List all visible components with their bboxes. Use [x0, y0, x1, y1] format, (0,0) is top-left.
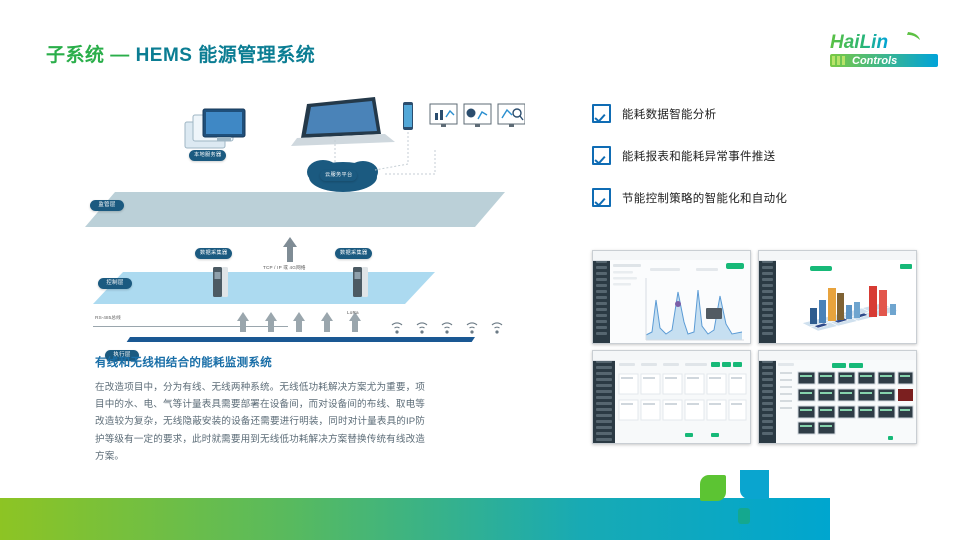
checkbox-checked-icon[interactable] — [592, 188, 611, 207]
body-copy-block: 有线和无线相结合的能耗监测系统 在改造项目中，分为有线、无线两种系统。无线低功耗… — [95, 354, 425, 465]
thumb-sidebar — [759, 251, 776, 343]
page-title-prefix: 子系统 — — [46, 45, 136, 66]
checklist-item[interactable]: 能耗数据智能分析 — [592, 104, 922, 123]
checklist-item[interactable]: 节能控制策略的智能化和自动化 — [592, 188, 922, 207]
hailin-logo: HaiLin Controls — [812, 28, 942, 72]
network-label-rs485: RS-485总线 — [95, 314, 121, 321]
decoration-green-square — [700, 475, 726, 501]
checkbox-checked-icon[interactable] — [592, 146, 611, 165]
thumb-sidebar — [759, 351, 776, 443]
node-badge-cloud-platform: 云服务平台 — [320, 170, 357, 181]
screenshot-gallery — [592, 250, 918, 442]
feature-checklist: 能耗数据智能分析 能耗报表和能耗异常事件推送 节能控制策略的智能化和自动化 — [592, 104, 922, 230]
decoration-blue-square — [740, 470, 769, 499]
bottom-gradient-bar — [0, 498, 830, 540]
network-label-tcpip: TCP / IP 或 4G网络 — [263, 265, 306, 271]
decoration-teal-square — [738, 508, 750, 524]
checkbox-checked-icon[interactable] — [592, 104, 611, 123]
checklist-item[interactable]: 能耗报表和能耗异常事件推送 — [592, 146, 922, 165]
node-badge-data-collector-wired: 数据采集器 — [195, 248, 232, 259]
thumb-sidebar — [593, 351, 615, 443]
node-badge-local-server: 本地服务器 — [189, 150, 226, 161]
screenshot-3d-energy-bar-dashboard[interactable] — [758, 250, 917, 344]
screenshot-device-tile-monitor-dashboard[interactable] — [758, 350, 917, 444]
body-copy-paragraph: 在改造项目中，分为有线、无线两种系统。无线低功耗解决方案尤为重要，项目中的水、电… — [95, 379, 425, 465]
thumb-content — [610, 260, 750, 343]
page-title-main: HEMS 能源管理系统 — [136, 45, 316, 66]
thumb-content — [615, 360, 750, 443]
checklist-item-label: 能耗数据智能分析 — [622, 106, 716, 122]
slide-root: 子系统 — HEMS 能源管理系统 HaiLin Controls — [0, 0, 960, 540]
svg-text:Controls: Controls — [852, 55, 897, 67]
thumb-sidebar — [593, 251, 610, 343]
rs485-bus-line — [93, 326, 288, 327]
screenshot-device-card-list-dashboard[interactable] — [592, 350, 751, 444]
layer-badge-supervision: 监管层 — [90, 200, 124, 211]
checklist-item-label: 节能控制策略的智能化和自动化 — [622, 190, 787, 206]
checklist-item-label: 能耗报表和能耗异常事件推送 — [622, 148, 775, 164]
body-copy-heading: 有线和无线相结合的能耗监测系统 — [95, 354, 425, 370]
svg-text:HaiLin: HaiLin — [830, 32, 888, 53]
thumb-content — [776, 360, 916, 443]
layer-badge-control: 控制层 — [98, 278, 132, 289]
thumb-content — [776, 260, 916, 343]
system-architecture-diagram: 监管层 控制层 执行层 本地服务器 云服务平台 数据采集器 数据采集器 TCP … — [85, 82, 525, 342]
network-label-lora: LoRa — [347, 310, 359, 315]
node-badge-data-collector-wireless: 数据采集器 — [335, 248, 372, 259]
page-title: 子系统 — HEMS 能源管理系统 — [46, 40, 315, 67]
screenshot-energy-trend-dashboard[interactable] — [592, 250, 751, 344]
